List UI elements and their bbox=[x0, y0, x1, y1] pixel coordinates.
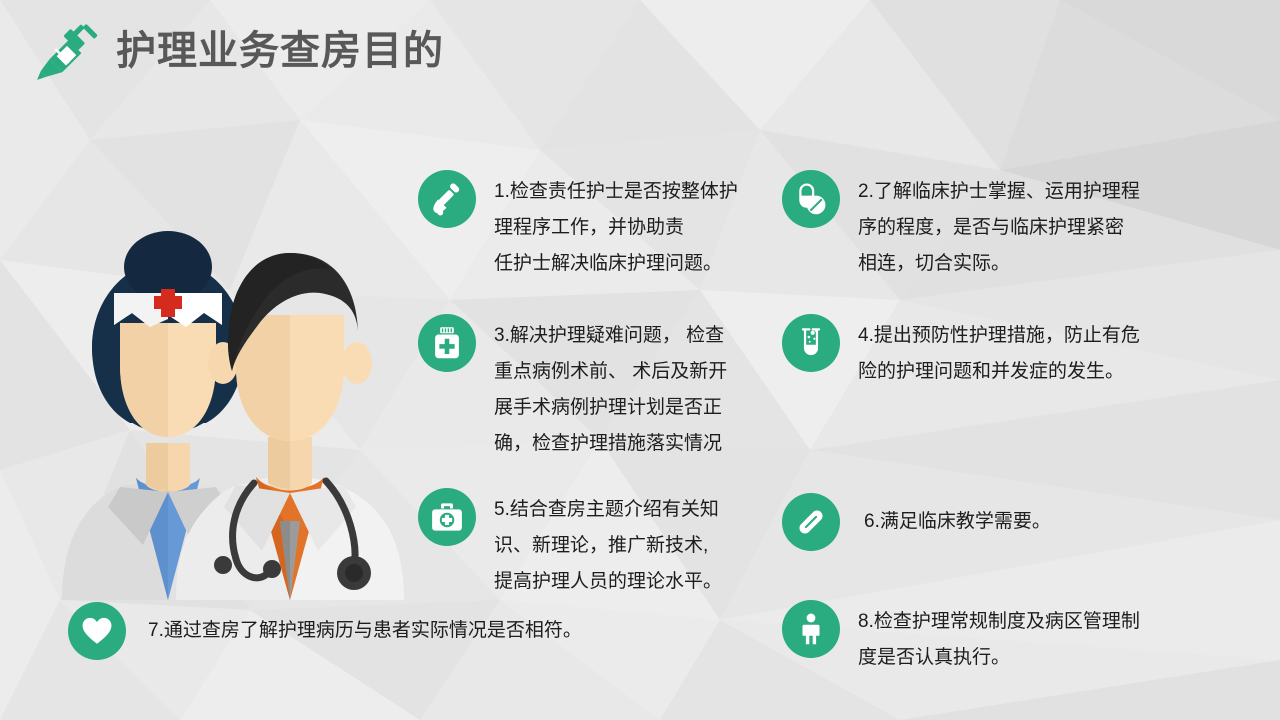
page-title: 护理业务查房目的 bbox=[116, 31, 444, 71]
objective-item-6-text: 6.满足临床教学需要。 bbox=[864, 504, 1051, 540]
objective-item-4: 4.提出预防性护理措施，防止有危 险的护理问题和并发症的发生。 bbox=[782, 314, 1222, 390]
slide-header: 护理业务查房目的 bbox=[34, 18, 444, 84]
syringe-icon bbox=[34, 18, 100, 84]
objective-item-3: 3.解决护理疑难问题， 检查 重点病例术前、 术后及新开 展手术病例护理计划是否… bbox=[418, 314, 778, 462]
medicine-bottle-icon bbox=[418, 314, 476, 372]
objective-item-8: 8.检查护理常规制度及病区管理制 度是否认真执行。 bbox=[782, 600, 1222, 676]
nurse-and-doctor-illustration bbox=[58, 215, 408, 600]
objective-item-5: 5.结合查房主题介绍有关知 识、新理论，推广新技术, 提高护理人员的理论水平。 bbox=[418, 488, 778, 600]
objective-item-2: 2.了解临床护士掌握、运用护理程 序的程度，是否与临床护理紧密 相连，切合实际。 bbox=[782, 170, 1212, 282]
objective-item-1: 1.检查责任护士是否按整体护 理程序工作，并协助责 任护士解决临床护理问题。 bbox=[418, 170, 778, 282]
objective-item-5-text: 5.结合查房主题介绍有关知 识、新理论，推广新技术, 提高护理人员的理论水平。 bbox=[494, 488, 722, 600]
objective-item-6: 6.满足临床教学需要。 bbox=[782, 493, 1202, 551]
person-icon bbox=[782, 600, 840, 658]
objective-item-4-text: 4.提出预防性护理措施，防止有危 险的护理问题和并发症的发生。 bbox=[858, 314, 1140, 390]
objective-item-1-text: 1.检查责任护士是否按整体护 理程序工作，并协助责 任护士解决临床护理问题。 bbox=[494, 170, 738, 282]
objective-item-8-text: 8.检查护理常规制度及病区管理制 度是否认真执行。 bbox=[858, 600, 1140, 676]
test-tube-icon bbox=[782, 314, 840, 372]
objective-item-3-text: 3.解决护理疑难问题， 检查 重点病例术前、 术后及新开 展手术病例护理计划是否… bbox=[494, 314, 727, 462]
objective-item-2-text: 2.了解临床护士掌握、运用护理程 序的程度，是否与临床护理紧密 相连，切合实际。 bbox=[858, 170, 1140, 282]
heart-icon bbox=[68, 602, 126, 660]
objective-item-7-text: 7.通过查房了解护理病历与患者实际情况是否相符。 bbox=[148, 613, 582, 649]
objective-item-7: 7.通过查房了解护理病历与患者实际情况是否相符。 bbox=[68, 602, 668, 660]
first-aid-kit-icon bbox=[418, 488, 476, 546]
pills-icon bbox=[782, 170, 840, 228]
capsule-icon bbox=[782, 493, 840, 551]
dropper-icon bbox=[418, 170, 476, 228]
